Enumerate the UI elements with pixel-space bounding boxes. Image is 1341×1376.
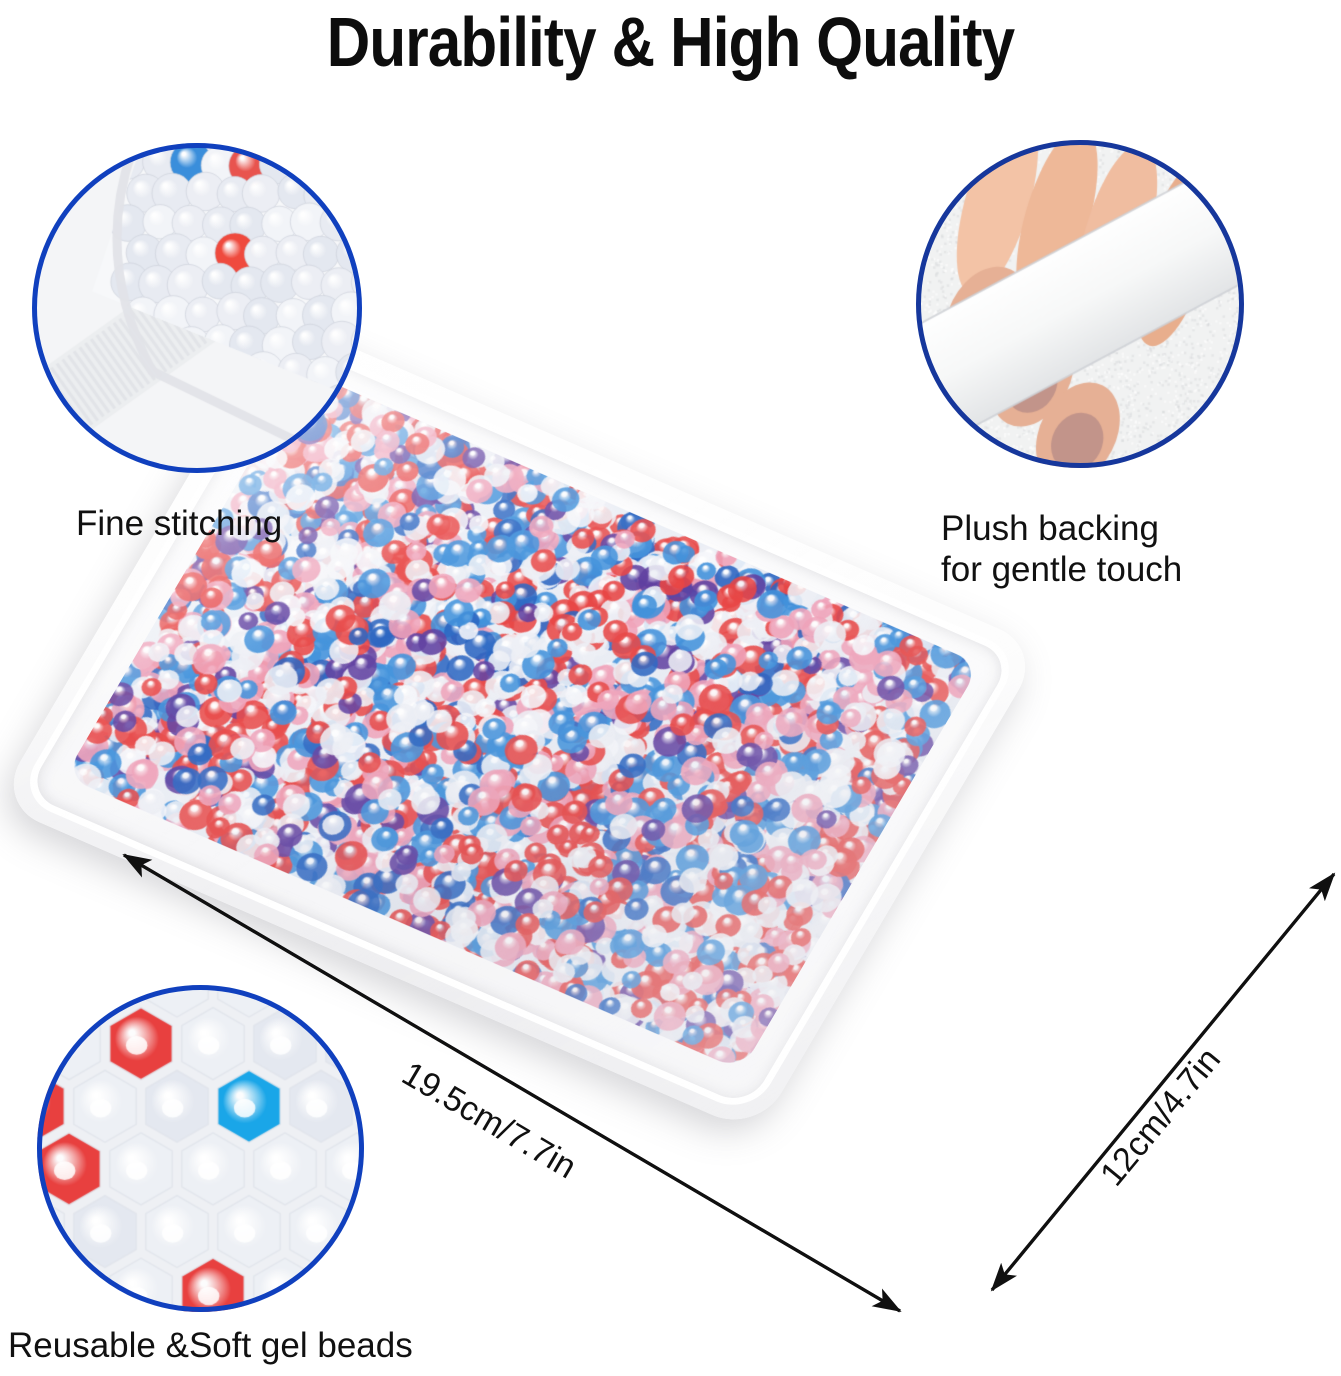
- gel-beads-photo: [37, 985, 364, 1312]
- fine-stitching-caption: Fine stitching: [76, 503, 396, 544]
- fine-stitching-photo: [32, 143, 362, 473]
- gel-beads-caption: Reusable &Soft gel beads: [8, 1325, 478, 1366]
- plush-backing-photo: [916, 140, 1244, 468]
- plush-backing-caption: Plush backing for gentle touch: [941, 508, 1281, 591]
- product-infographic: Durability & High Quality Fine stitching…: [0, 0, 1341, 1376]
- fine-stitching-inset: [32, 143, 362, 473]
- gel-beads-inset: [37, 985, 364, 1312]
- plush-backing-inset: [916, 140, 1244, 468]
- page-title: Durability & High Quality: [94, 2, 1247, 82]
